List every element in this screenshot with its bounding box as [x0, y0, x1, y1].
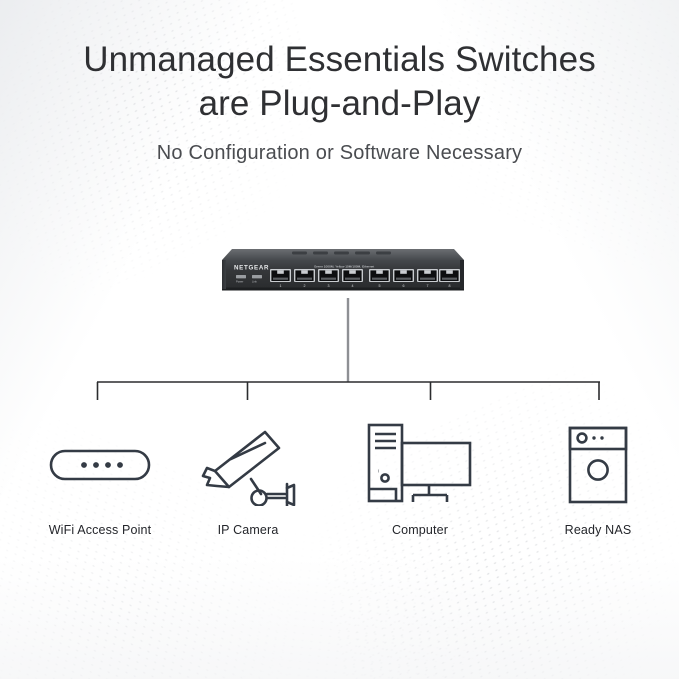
headline-block: Unmanaged Essentials Switches are Plug-a… [0, 38, 679, 126]
ready-nas-icon [523, 415, 673, 515]
svg-text:Power: Power [236, 280, 243, 284]
wifi-access-point-icon [25, 415, 175, 515]
connector-svg [0, 290, 679, 400]
svg-text:3: 3 [328, 284, 330, 288]
svg-text:6: 6 [403, 284, 405, 288]
device-computer: Computer [345, 415, 495, 537]
device-ip-camera: IP Camera [173, 415, 323, 537]
svg-text:Link: Link [252, 280, 257, 284]
svg-text:2: 2 [304, 284, 306, 288]
svg-text:4: 4 [352, 284, 354, 288]
marketing-infographic: Unmanaged Essentials Switches are Plug-a… [0, 0, 679, 679]
svg-text:7: 7 [427, 284, 429, 288]
svg-text:1: 1 [280, 284, 282, 288]
device-label: IP Camera [173, 523, 323, 537]
svg-text:8: 8 [449, 284, 451, 288]
computer-icon [345, 415, 495, 515]
ip-camera-icon [173, 415, 323, 515]
page-subtitle: No Configuration or Software Necessary [0, 142, 679, 165]
connected-devices-row: WiFi Access Point [0, 415, 679, 555]
connection-diagram-lines [0, 290, 679, 400]
page-title: Unmanaged Essentials Switches are Plug-a… [0, 38, 679, 126]
device-label: WiFi Access Point [25, 523, 175, 537]
svg-text:5: 5 [379, 284, 381, 288]
switch-illustration: NETGEAR Green 1000M, Yellow 10M/100M, Et… [218, 243, 468, 298]
device-ready-nas: Ready NAS [523, 415, 673, 537]
netgear-switch-device: NETGEAR Green 1000M, Yellow 10M/100M, Et… [218, 243, 468, 298]
device-label: Ready NAS [523, 523, 673, 537]
port-legend-text: Green 1000M, Yellow 10M/100M, Ethernet [314, 265, 374, 269]
device-wifi-access-point: WiFi Access Point [25, 415, 175, 537]
device-label: Computer [345, 523, 495, 537]
netgear-wordmark: NETGEAR [234, 265, 269, 272]
